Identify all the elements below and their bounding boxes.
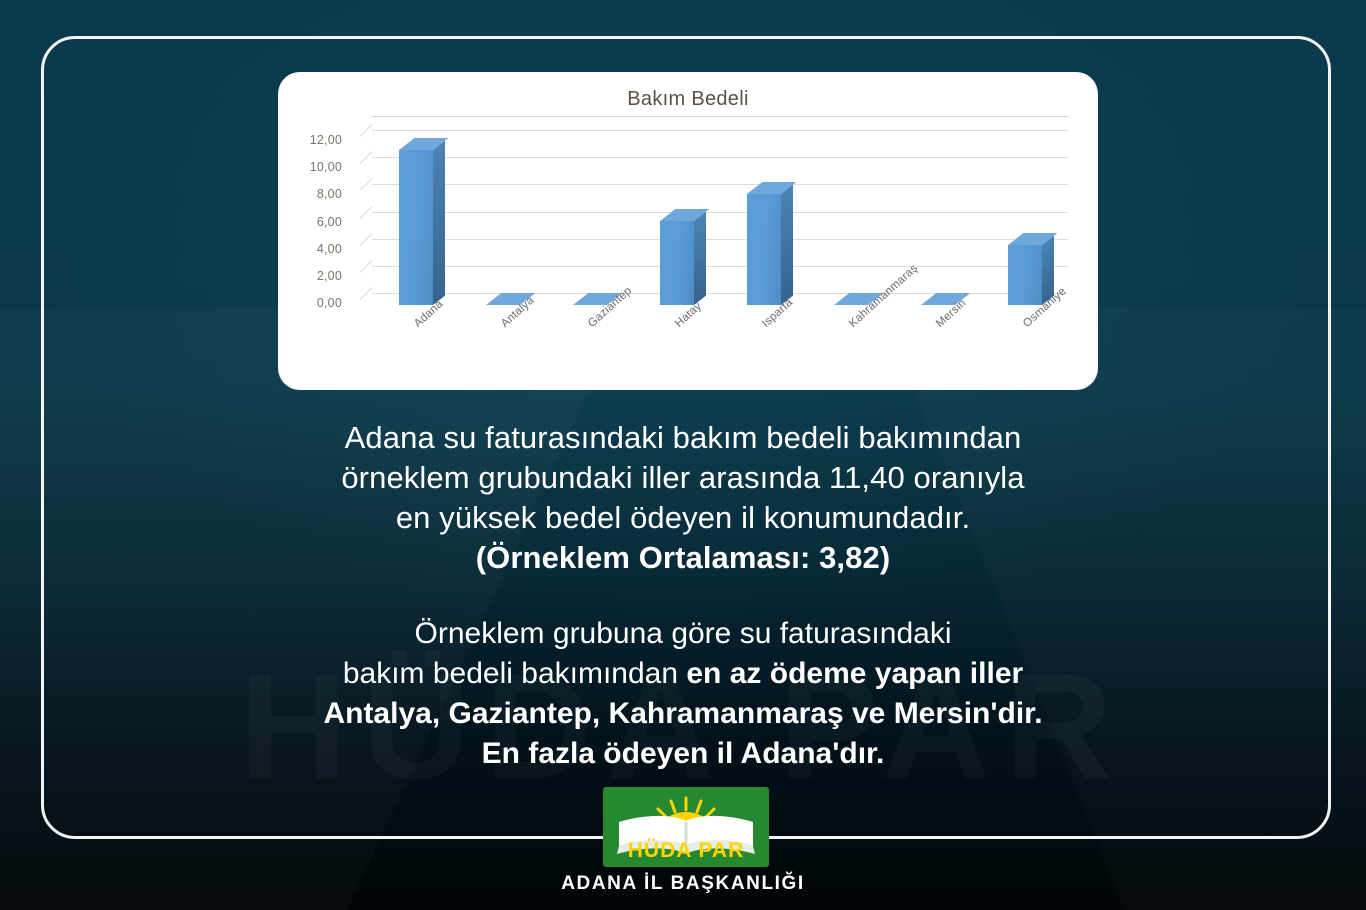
gridline xyxy=(372,157,1068,158)
p1-line4: (Örneklem Ortalaması: 3,82) xyxy=(70,538,1296,578)
huda-par-logo: HÜDA PAR xyxy=(603,787,769,867)
p1-line1: Adana su faturasındaki bakım bedeli bakı… xyxy=(70,418,1296,458)
bar-side-face xyxy=(694,211,706,305)
gridline xyxy=(372,239,1068,240)
p2-line4: En fazla ödeyen il Adana'dır. xyxy=(70,734,1296,774)
y-axis-tick-label: 2,00 xyxy=(286,269,342,283)
y-axis-tick-label: 10,00 xyxy=(286,160,342,174)
y-axis-tick-label: 4,00 xyxy=(286,242,342,256)
y-axis-tick-label: 6,00 xyxy=(286,215,342,229)
gridline xyxy=(372,266,1068,267)
p2-line2-bold: en az ödeme yapan iller xyxy=(686,657,1023,690)
paragraph-1: Adana su faturasındaki bakım bedeli bakı… xyxy=(70,418,1296,578)
axis-depth-connector xyxy=(360,178,373,191)
p1-line2: örneklem grubundaki iller arasında 11,40… xyxy=(70,458,1296,498)
bar-hatay xyxy=(660,207,694,305)
backwall-top-line xyxy=(372,116,1068,117)
axis-depth-connector xyxy=(360,287,373,300)
bar-adana xyxy=(399,136,433,305)
bar-isparta xyxy=(747,180,781,305)
p2-line3: Antalya, Gaziantep, Kahramanmaraş ve Mer… xyxy=(70,694,1296,734)
y-axis-tick-label: 8,00 xyxy=(286,187,342,201)
p1-line3: en yüksek bedel ödeyen il konumundadır. xyxy=(70,498,1296,538)
axis-depth-connector xyxy=(360,233,373,246)
axis-depth-connector xyxy=(360,206,373,219)
bar-antalya xyxy=(486,291,520,305)
chart-card: Bakım Bedeli 12,0010,008,006,004,002,000… xyxy=(278,72,1098,390)
y-axis-tick-label: 0,00 xyxy=(286,296,342,310)
bar-front-face xyxy=(1008,245,1042,305)
bar-side-face xyxy=(433,141,445,305)
bar-osmaniye xyxy=(1008,231,1042,305)
paragraph-2: Örneklem grubuna göre su faturasındaki b… xyxy=(70,614,1296,774)
gridline xyxy=(372,212,1068,213)
bar-side-face xyxy=(781,184,793,305)
bar-mersin xyxy=(921,291,955,305)
gridline xyxy=(372,184,1068,185)
y-axis-labels: 12,0010,008,006,004,002,000,00 xyxy=(286,72,342,390)
p2-line2: bakım bedeli bakımından en az ödeme yapa… xyxy=(70,654,1296,694)
gridline xyxy=(372,130,1068,131)
bar-kahramanmara- xyxy=(834,291,868,305)
p2-line1: Örneklem grubuna göre su faturasındaki xyxy=(70,614,1296,654)
axis-depth-connector xyxy=(360,260,373,273)
bar-front-face xyxy=(660,221,694,305)
logo-caption: ADANA İL BAŞKANLIĞI xyxy=(0,873,1366,895)
bar-front-face xyxy=(747,194,781,305)
body-copy: Adana su faturasındaki bakım bedeli bakı… xyxy=(70,418,1296,774)
logo-wordmark: HÜDA PAR xyxy=(603,839,769,863)
bar-gaziantep xyxy=(573,291,607,305)
bar-chart-plot-area: 12,0010,008,006,004,002,000,00 AdanaAnta… xyxy=(278,72,1098,390)
y-axis-tick-label: 12,00 xyxy=(286,133,342,147)
bar-front-face xyxy=(399,150,433,305)
axis-depth-connector xyxy=(360,151,373,164)
p2-line2-normal: bakım bedeli bakımından xyxy=(343,657,687,690)
axis-depth-connector xyxy=(360,124,373,137)
